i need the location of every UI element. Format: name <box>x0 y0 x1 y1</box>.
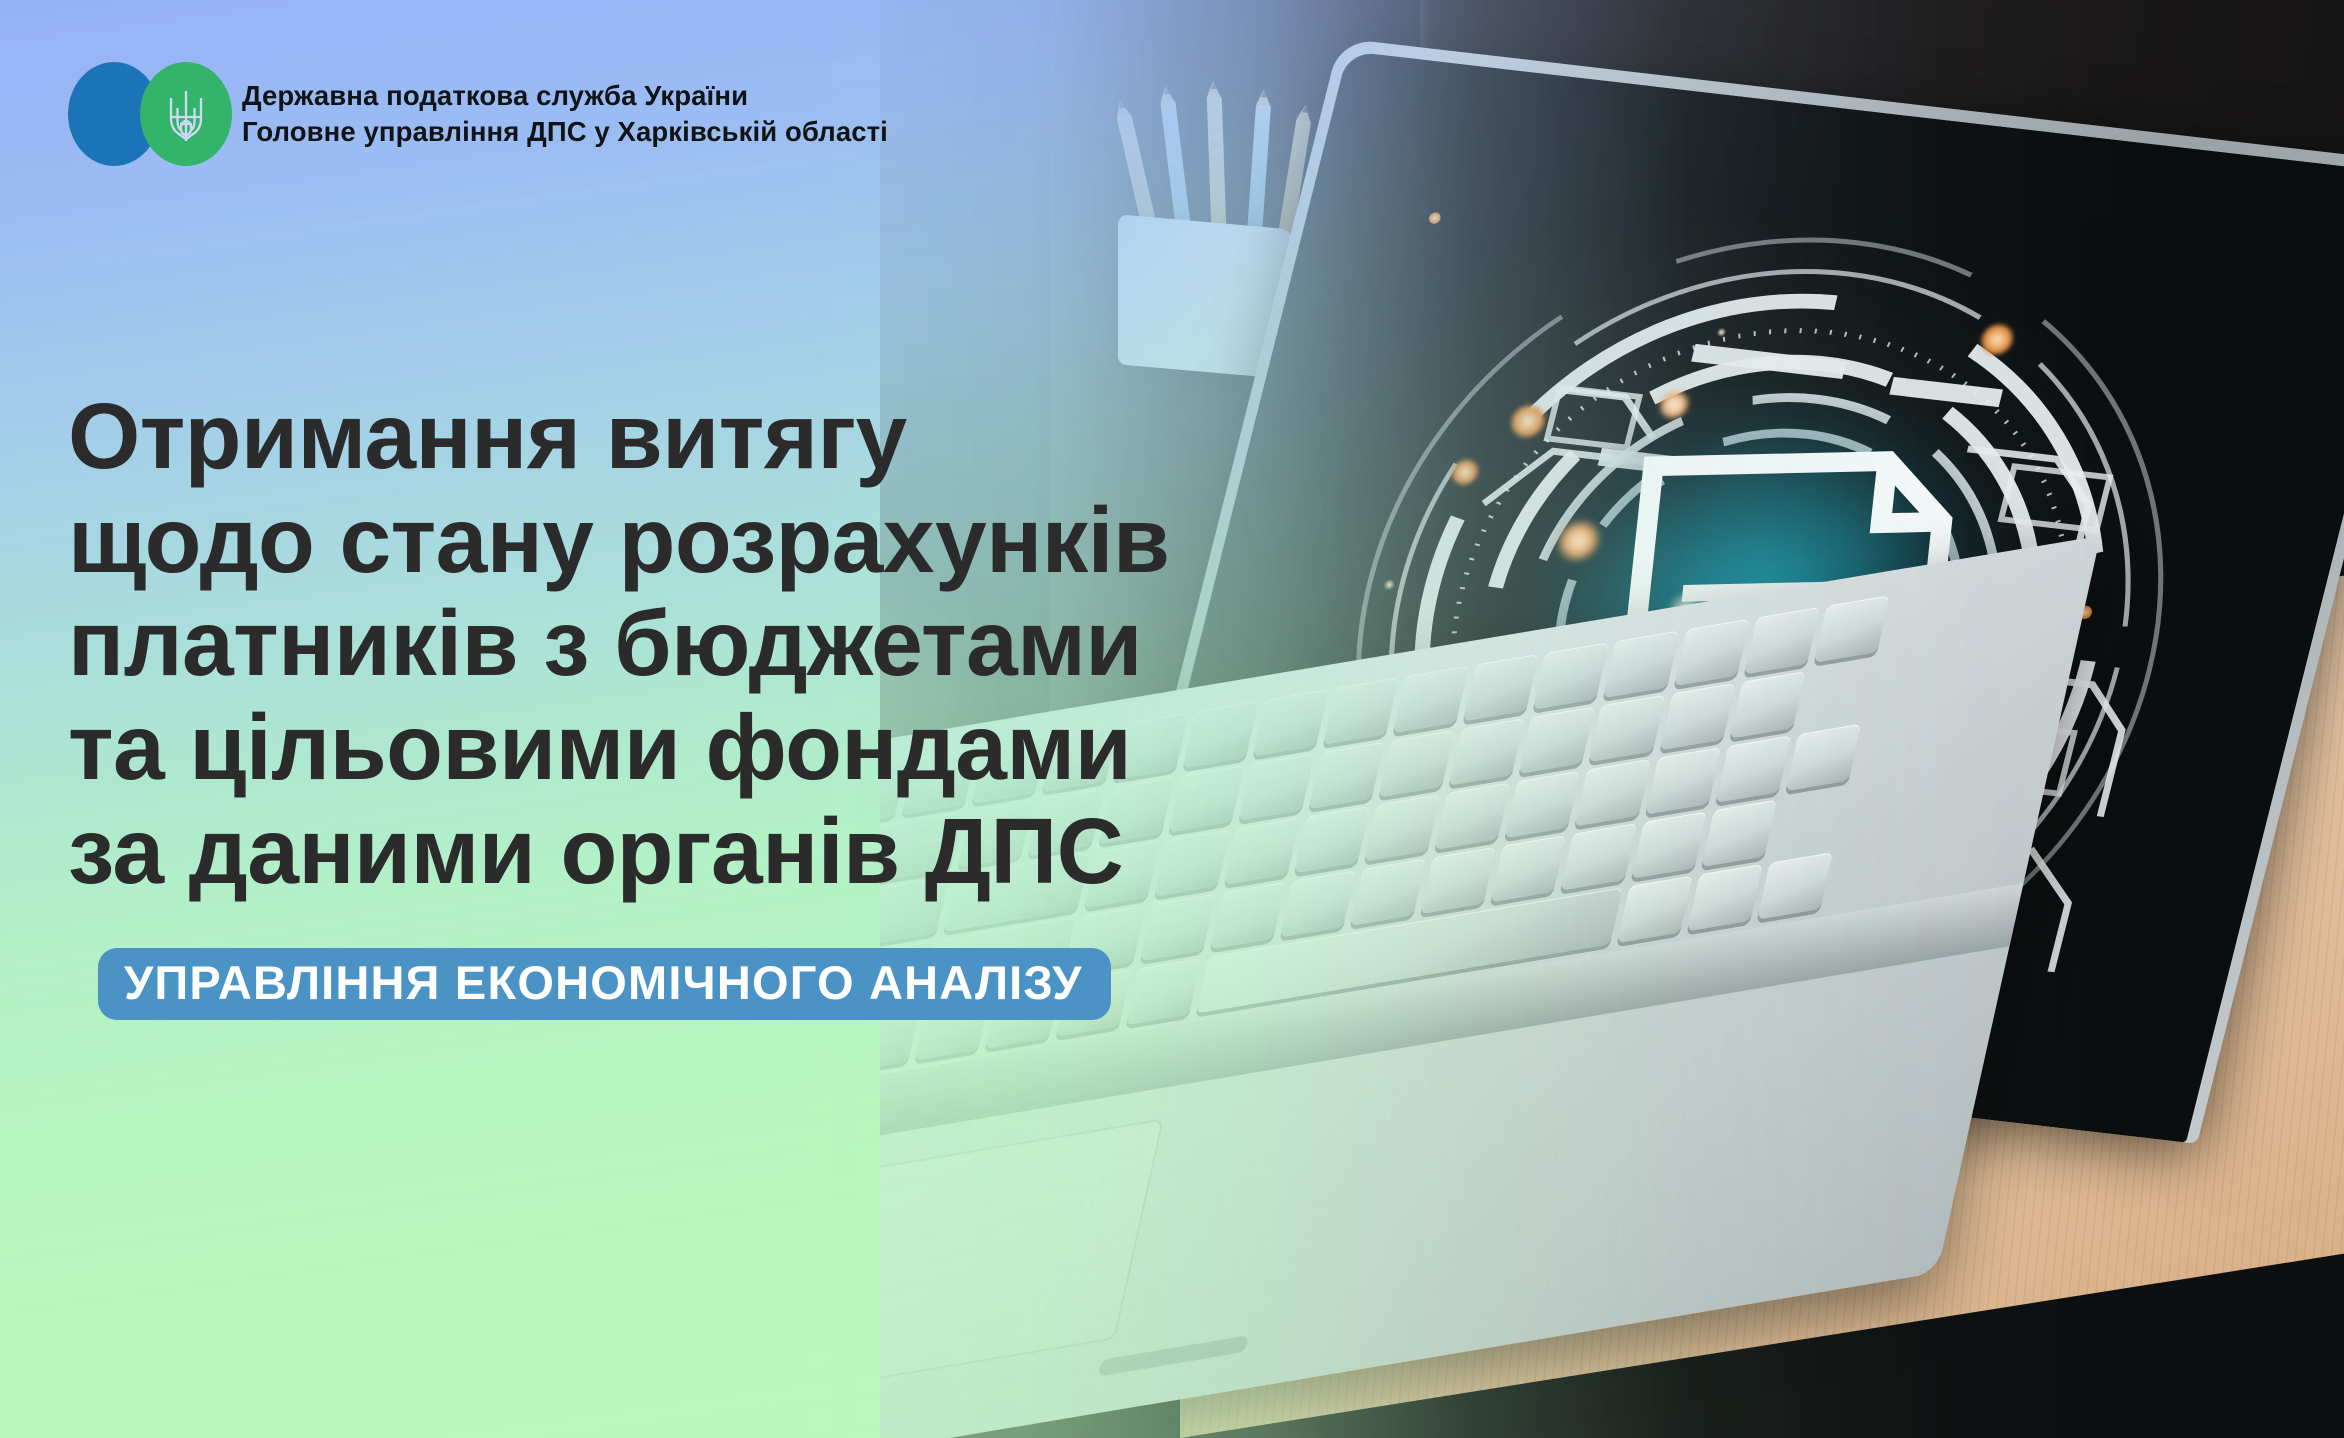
promo-banner: Державна податкова служба України Головн… <box>0 0 2344 1438</box>
dps-logo <box>68 62 228 166</box>
ukraine-trident-icon <box>163 88 209 144</box>
org-line-1: Державна податкова служба України <box>242 78 888 114</box>
headline-line-2: щодо стану розрахунків <box>68 489 1169 593</box>
org-name-block: Державна податкова служба України Головн… <box>242 78 888 150</box>
headline-line-4: та цільовими фондами <box>68 696 1169 800</box>
department-badge: УПРАВЛІННЯ ЕКОНОМІЧНОГО АНАЛІЗУ <box>98 948 1111 1020</box>
page-title: Отримання витягу щодо стану розрахунків … <box>68 385 1169 903</box>
org-header: Державна податкова служба України Головн… <box>68 62 888 166</box>
headline-line-5: за даними органів ДПС <box>68 800 1169 904</box>
department-badge-label: УПРАВЛІННЯ ЕКОНОМІЧНОГО АНАЛІЗУ <box>124 956 1083 1009</box>
headline-line-1: Отримання витягу <box>68 385 1169 489</box>
dps-green-ellipse <box>140 62 232 166</box>
headline-line-3: платників з бюджетами <box>68 592 1169 696</box>
org-line-2: Головне управління ДПС у Харківській обл… <box>242 114 888 150</box>
